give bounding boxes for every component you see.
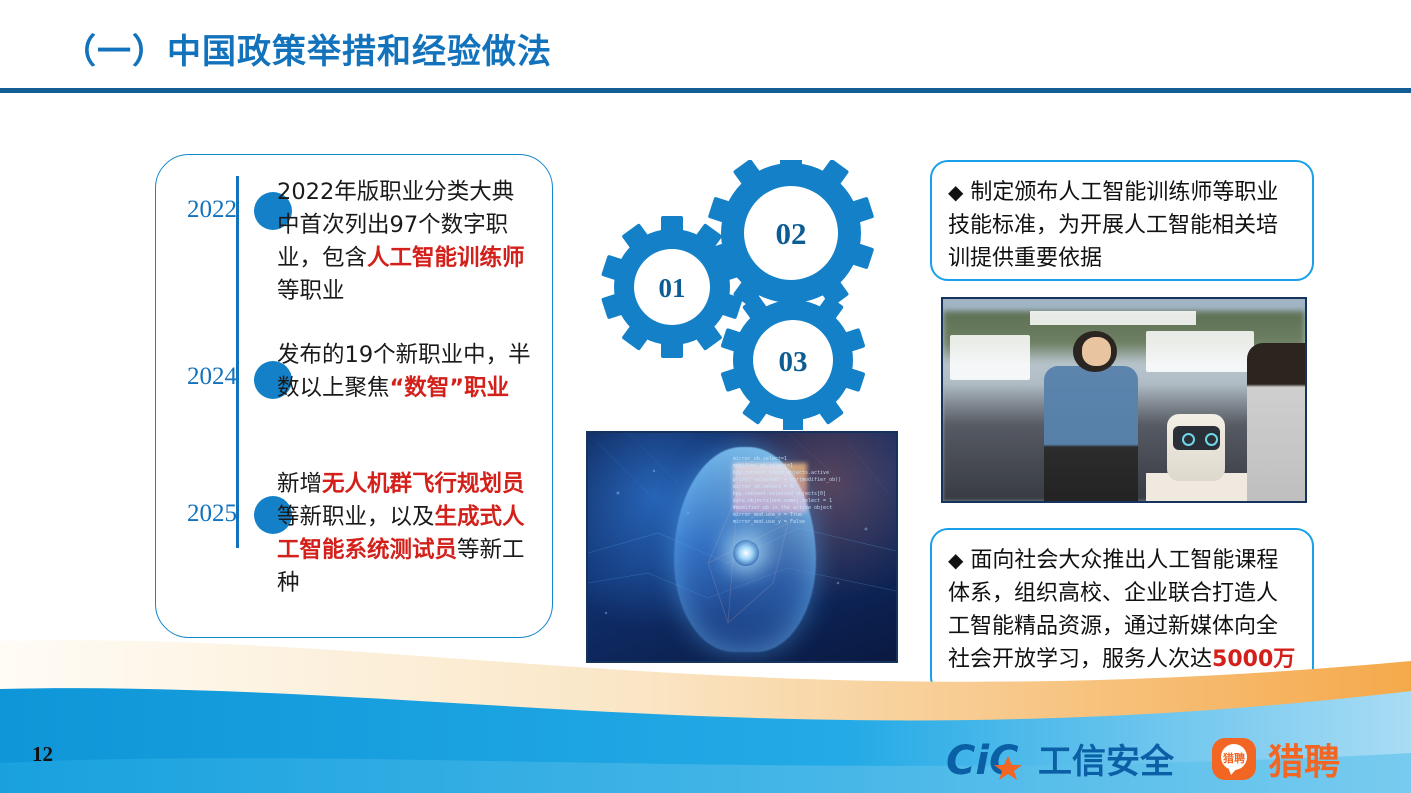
expo-canopy — [1030, 311, 1197, 325]
text-run: 等职业 — [277, 278, 345, 304]
liepin-logo: 猎聘 猎聘 — [1212, 736, 1411, 782]
gear-tooth — [783, 287, 803, 306]
expo-tent-right — [1146, 331, 1255, 371]
page-title: （一）中国政策举措和经验做法 — [62, 24, 552, 73]
highlight-run: “数智”职业 — [390, 375, 510, 401]
expo-visitor — [1247, 343, 1305, 501]
expo-photo — [941, 297, 1307, 503]
timeline-year-label: 2024 — [165, 363, 237, 391]
title-divider — [0, 88, 1411, 93]
gear-03-label: 03 — [779, 346, 808, 378]
timeline-item-text: 发布的19个新职业中，半数以上聚焦“数智”职业 — [277, 339, 533, 405]
liepin-badge-text: 猎聘 — [1223, 751, 1245, 765]
cic-gongxin-anquan-logo: CiC 工信安全 — [946, 736, 1186, 782]
cic-logo-text: 工信安全 — [1038, 742, 1175, 782]
expo-presenter-body — [1044, 366, 1138, 501]
timeline-item-text: 2022年版职业分类大典中首次列出97个数字职业，包含人工智能训练师等职业 — [277, 176, 533, 308]
timeline-item-text: 新增无人机群飞行规划员等新职业，以及生成式人工智能系统测试员等新工种 — [277, 468, 533, 600]
highlight-run: 人工智能训练师 — [367, 245, 525, 271]
gear-tooth — [780, 160, 802, 169]
timeline-year-label: 2025 — [165, 500, 237, 528]
policy-card-standards-text: ◆ 制定颁布人工智能训练师等职业技能标准，为开展人工智能相关培训提供重要依据 — [948, 176, 1296, 275]
gear-tooth — [783, 414, 803, 430]
page-number: 12 — [32, 742, 53, 767]
diamond-bullet-icon: ◆ — [948, 548, 963, 572]
slide-root: （一）中国政策举措和经验做法 20222022年版职业分类大典中首次列出97个数… — [0, 0, 1411, 793]
timeline-year-label: 2022 — [165, 196, 237, 224]
footer-waves — [0, 613, 1411, 793]
ai-head-glow — [733, 540, 759, 566]
expo-presenter-face — [1082, 337, 1111, 365]
text-run: 制定颁布人工智能训练师等职业技能标准，为开展人工智能相关培训提供重要依据 — [948, 180, 1278, 271]
gears-svg: 01 02 03 — [600, 160, 900, 430]
gears-graphic: 01 02 03 — [600, 160, 900, 430]
policy-card-standards: ◆ 制定颁布人工智能训练师等职业技能标准，为开展人工智能相关培训提供重要依据 — [930, 160, 1314, 281]
text-run: 等新职业，以及 — [277, 504, 435, 530]
expo-tent-left — [950, 335, 1030, 379]
gear-02-label: 02 — [776, 216, 807, 251]
text-run: 新增 — [277, 471, 322, 497]
gear-01-label: 01 — [659, 273, 686, 303]
liepin-logo-text: 猎聘 — [1268, 742, 1340, 782]
timeline-axis — [236, 176, 239, 548]
highlight-run: 无人机群飞行规划员 — [322, 471, 525, 497]
ai-head-code-overlay: mirror_ob.select=1 modifier_ob.select=1 … — [733, 456, 893, 634]
diamond-bullet-icon: ◆ — [948, 180, 963, 204]
